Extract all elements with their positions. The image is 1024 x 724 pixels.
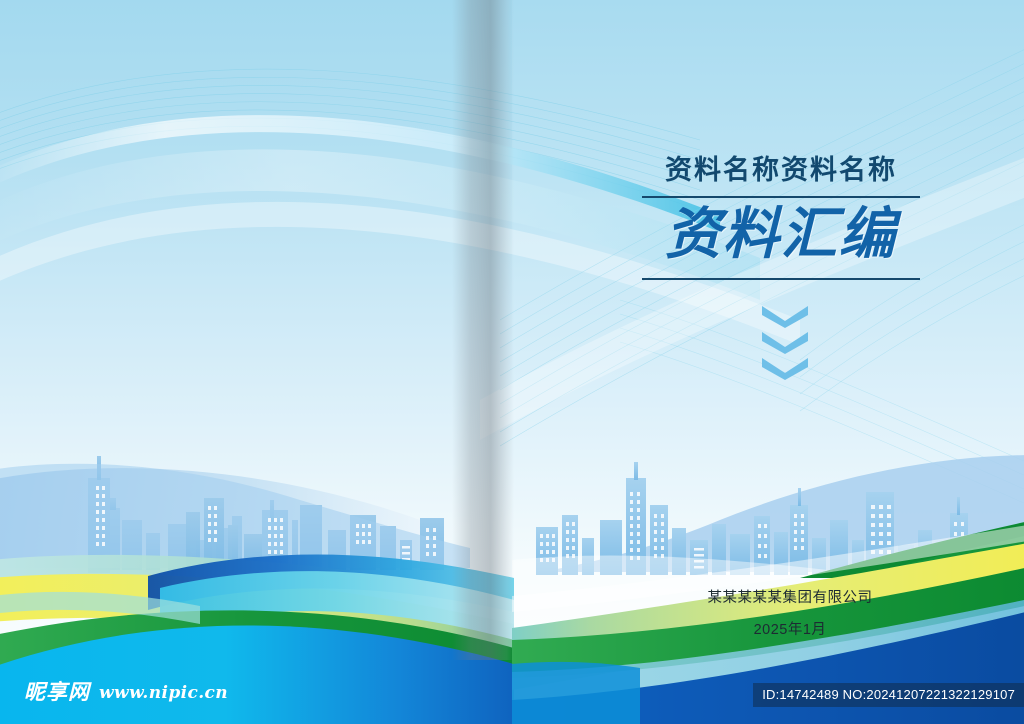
organization-name: 某某某某某集团有限公司 (640, 588, 940, 610)
chevron-down-icon (762, 306, 808, 328)
chevron-stack (762, 306, 810, 384)
chevron-down-icon (762, 358, 808, 380)
cover-artwork-canvas: 资料名称资料名称 资料汇编 某某某某某集团有限公司 2025年1月 昵享网 ww… (0, 0, 1024, 724)
cover-title-block: 资料名称资料名称 资料汇编 (636, 156, 926, 280)
main-title: 资料汇编 (636, 204, 926, 267)
asset-id-badge: ID:14742489 NO:20241207221322129107 (753, 683, 1024, 707)
subject-line: 资料名称资料名称 (636, 156, 926, 186)
publication-date: 2025年1月 (640, 620, 940, 642)
divider-upper (642, 196, 920, 198)
chevron-down-icon (762, 332, 808, 354)
divider-lower (642, 278, 920, 280)
organization-block: 某某某某某集团有限公司 2025年1月 (640, 588, 940, 642)
